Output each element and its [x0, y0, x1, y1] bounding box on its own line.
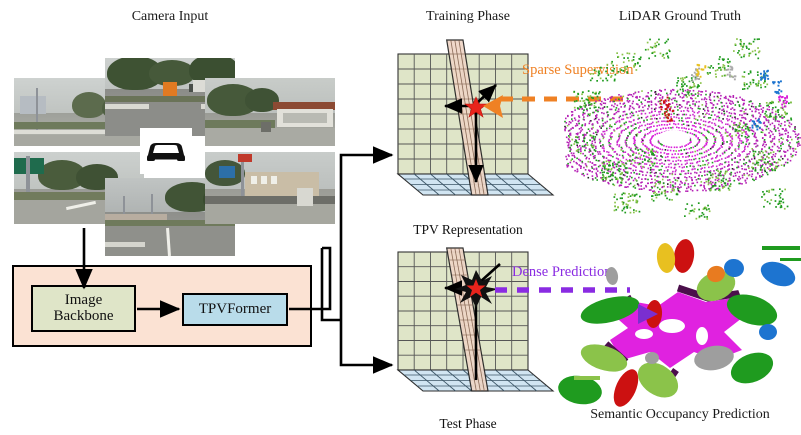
title-lidar-ground-truth: LiDAR Ground Truth: [619, 10, 741, 24]
tpvformer-label: TPVFormer: [199, 302, 272, 318]
camera-view-back-right: [205, 152, 335, 224]
caption-tpv-representation: TPV Representation: [413, 222, 523, 238]
arrow-to-test-phase: [341, 320, 392, 365]
figure-root: Camera Input Training Phase LiDAR Ground…: [0, 0, 801, 435]
bus-vertical: [322, 248, 341, 320]
caption-test-phase: Test Phase: [439, 416, 496, 432]
caption-semantic-occupancy: Semantic Occupancy Prediction: [590, 408, 770, 422]
arrow-to-training-phase: [341, 155, 392, 320]
semantic-occupancy-pointcloud: [566, 240, 801, 405]
ego-vehicle-icon: [140, 128, 192, 174]
title-camera-input: Camera Input: [132, 10, 209, 24]
image-backbone-box[interactable]: Image Backbone: [31, 285, 136, 332]
backbone-label-line1: Image: [65, 292, 102, 308]
camera-view-front-right: [205, 78, 335, 146]
tpvformer-box[interactable]: TPVFormer: [182, 293, 288, 326]
lidar-ground-truth-pointcloud: [568, 40, 801, 230]
car-glyph: [144, 139, 188, 163]
backbone-label-line2: Backbone: [54, 308, 114, 324]
title-training-phase: Training Phase: [426, 10, 510, 24]
